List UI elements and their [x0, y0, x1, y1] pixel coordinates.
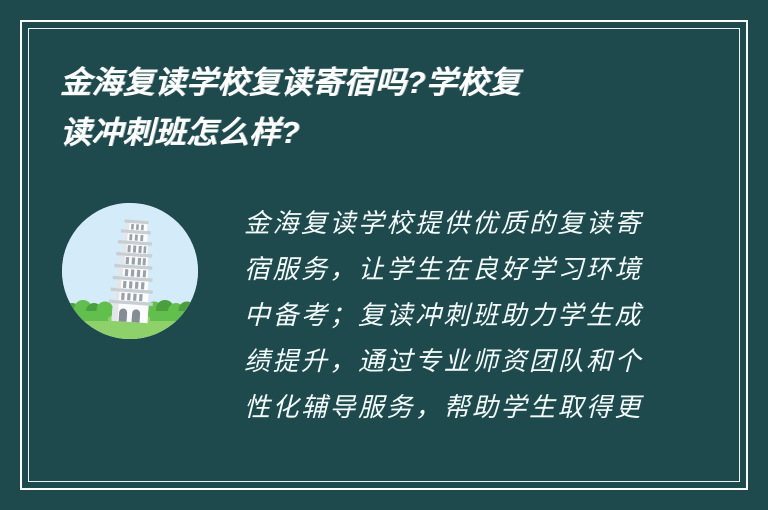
page-title-line-1: 金海复读学校复读寄宿吗?学校复: [60, 58, 660, 108]
illustration: [62, 203, 198, 339]
tree-cluster-right: [146, 300, 196, 321]
body-line-4: 绩提升，通过专业师资团队和个: [244, 339, 720, 385]
body-line-5: 性化辅导服务，帮助学生取得更: [244, 385, 720, 431]
page-title: 金海复读学校复读寄宿吗?学校复 读冲刺班怎么样?: [60, 58, 660, 158]
body-line-3: 中备考；复读冲刺班助力学生成: [244, 293, 720, 339]
tree-cluster-left: [64, 300, 114, 321]
page-title-line-2: 读冲刺班怎么样?: [60, 108, 660, 158]
body-paragraph: 金海复读学校提供优质的复读寄 宿服务，让学生在良好学习环境 中备考；复读冲刺班助…: [244, 201, 720, 431]
content-area: 金海复读学校提供优质的复读寄 宿服务，让学生在良好学习环境 中备考；复读冲刺班助…: [48, 195, 720, 472]
leaning-tower-icon: [62, 203, 198, 339]
illustration-circle: [62, 203, 198, 339]
body-line-2: 宿服务，让学生在良好学习环境: [244, 247, 720, 293]
body-line-1: 金海复读学校提供优质的复读寄: [244, 201, 720, 247]
poster-canvas: 金海复读学校复读寄宿吗?学校复 读冲刺班怎么样?: [0, 0, 768, 510]
